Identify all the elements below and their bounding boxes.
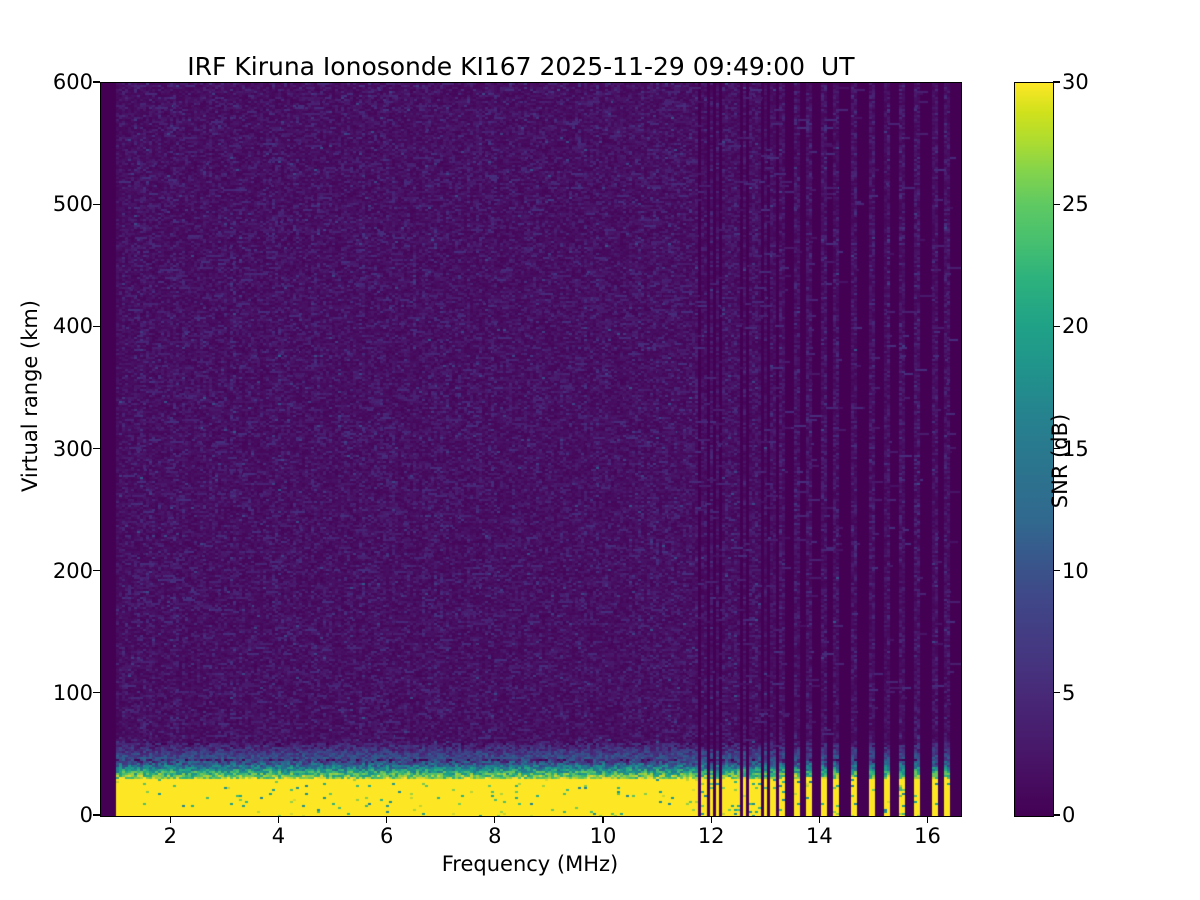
x-tick-mark — [494, 816, 495, 823]
x-tick-label: 8 — [488, 824, 501, 848]
y-tick-mark — [93, 692, 100, 693]
colorbar-tick-mark — [1053, 204, 1060, 205]
x-tick-mark — [602, 816, 603, 823]
colorbar-tick-mark — [1053, 692, 1060, 693]
y-tick-mark — [93, 81, 100, 82]
y-tick-label: 400 — [53, 314, 93, 338]
title-line-1: IRF Kiruna Ionosonde KI167 2025-11-29 09… — [187, 52, 854, 81]
y-tick-label: 500 — [53, 192, 93, 216]
y-tick-label: 0 — [80, 803, 93, 827]
x-tick-mark — [278, 816, 279, 823]
x-tick-mark — [711, 816, 712, 823]
x-tick-label: 12 — [698, 824, 725, 848]
x-tick-label: 4 — [272, 824, 285, 848]
x-tick-mark — [927, 816, 928, 823]
ionogram-heatmap-canvas — [101, 83, 961, 816]
x-axis-label: Frequency (MHz) — [100, 852, 960, 876]
x-tick-label: 10 — [590, 824, 617, 848]
y-tick-mark — [93, 204, 100, 205]
y-tick-mark — [93, 814, 100, 815]
x-tick-label: 2 — [164, 824, 177, 848]
heatmap-plot-area — [100, 82, 962, 817]
y-tick-label: 100 — [53, 681, 93, 705]
colorbar-tick-mark — [1053, 814, 1060, 815]
colorbar-tick-label: 30 — [1062, 70, 1089, 94]
colorbar-tick-label: 5 — [1062, 681, 1075, 705]
x-tick-mark — [819, 816, 820, 823]
y-tick-label: 600 — [53, 70, 93, 94]
ionogram-figure: IRF Kiruna Ionosonde KI167 2025-11-29 09… — [0, 0, 1200, 900]
x-tick-label: 6 — [380, 824, 393, 848]
y-axis-label: Virtual range (km) — [18, 136, 42, 656]
x-tick-label: 14 — [806, 824, 833, 848]
colorbar-tick-label: 25 — [1062, 192, 1089, 216]
x-tick-mark — [386, 816, 387, 823]
x-tick-label: 16 — [914, 824, 941, 848]
y-tick-label: 300 — [53, 437, 93, 461]
colorbar-tick-label: 0 — [1062, 803, 1075, 827]
x-tick-mark — [170, 816, 171, 823]
y-tick-mark — [93, 448, 100, 449]
y-tick-mark — [93, 570, 100, 571]
y-tick-mark — [93, 326, 100, 327]
colorbar-tick-mark — [1053, 81, 1060, 82]
y-tick-label: 200 — [53, 559, 93, 583]
colorbar-label: SNR (dB) — [1048, 311, 1072, 611]
